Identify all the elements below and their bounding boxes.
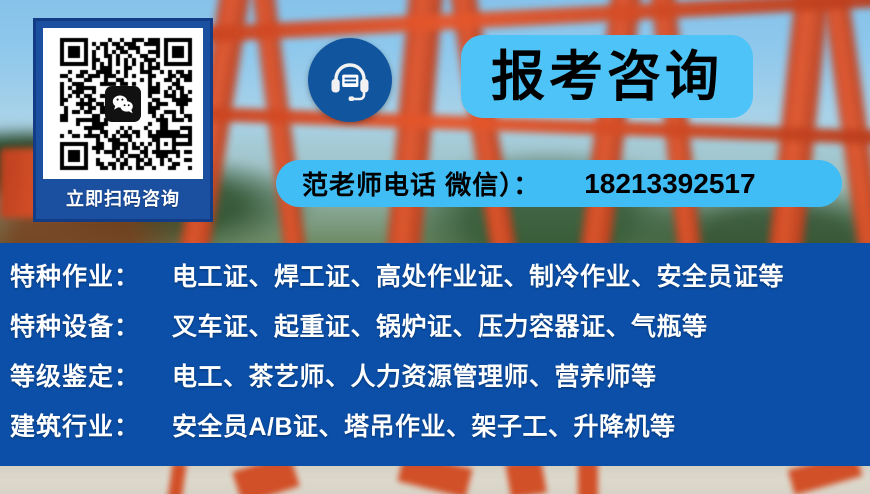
category-items: 安全员A/B证、塔吊作业、架子工、升降机等 [172, 407, 676, 443]
category-row: 等级鉴定： 电工、茶艺师、人力资源管理师、营养师等 [10, 357, 870, 407]
category-label: 建筑行业： [10, 407, 172, 443]
category-row: 特种设备： 叉车证、起重证、锅炉证、压力容器证、气瓶等 [10, 307, 870, 357]
certificate-category-panel: 特种作业： 电工证、焊工证、高处作业证、制冷作业、安全员证等 特种设备： 叉车证… [0, 243, 870, 466]
bottom-beam [578, 466, 598, 494]
category-items: 电工证、焊工证、高处作业证、制冷作业、安全员证等 [172, 257, 784, 293]
title-banner: 报考咨询 [461, 35, 753, 118]
category-items: 叉车证、起重证、锅炉证、压力容器证、气瓶等 [172, 307, 708, 343]
bottom-beam [505, 466, 547, 494]
contact-phone-banner[interactable]: 范老师电话 微信）： 18213392517 [276, 160, 842, 207]
qr-code-caption: 立即扫码咨询 [66, 179, 180, 219]
category-label: 等级鉴定： [10, 357, 172, 393]
qr-code-image[interactable] [43, 28, 203, 179]
bottom-photo-strip [0, 466, 870, 494]
contact-label: 范老师电话 微信）： [302, 165, 540, 202]
category-label: 特种作业： [10, 257, 172, 293]
qr-code-panel[interactable]: 立即扫码咨询 [33, 18, 213, 222]
category-items: 电工、茶艺师、人力资源管理师、营养师等 [172, 357, 657, 393]
contact-phone-number[interactable]: 18213392517 [584, 168, 755, 200]
promo-poster: 立即扫码咨询 报考咨询 范老师电话 微信）： 18213392517 特种作业：… [0, 0, 870, 494]
page-title: 报考咨询 [491, 50, 723, 104]
wechat-icon [105, 86, 141, 122]
category-label: 特种设备： [10, 307, 172, 343]
category-row: 特种作业： 电工证、焊工证、高处作业证、制冷作业、安全员证等 [10, 257, 870, 307]
category-row: 建筑行业： 安全员A/B证、塔吊作业、架子工、升降机等 [10, 407, 870, 457]
headset-support-icon [308, 38, 392, 122]
